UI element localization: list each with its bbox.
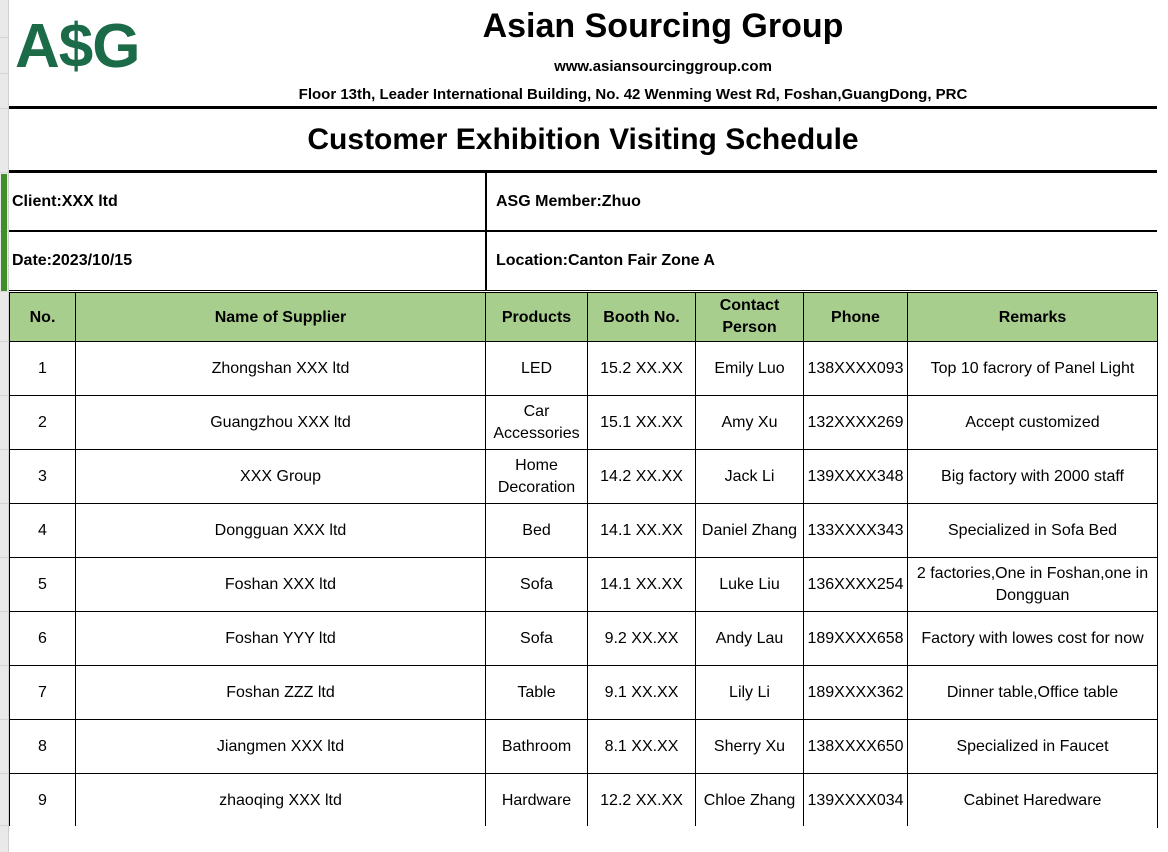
gutter-row[interactable] — [0, 292, 9, 342]
gutter-row[interactable] — [0, 666, 9, 720]
client-field[interactable]: Client:XXX ltd — [9, 173, 487, 230]
cell-supplier[interactable]: Foshan ZZZ ltd — [76, 666, 486, 720]
table-row: 1Zhongshan XXX ltdLED15.2 XX.XXEmily Luo… — [10, 342, 1158, 396]
cell-phone[interactable]: 133XXXX343 — [804, 504, 908, 558]
col-header-products[interactable]: Products — [486, 293, 588, 342]
cell-booth[interactable]: 9.1 XX.XX — [588, 666, 696, 720]
cell-remarks[interactable]: Top 10 facrory of Panel Light — [908, 342, 1158, 396]
table-row: 3XXX GroupHome Decoration14.2 XX.XXJack … — [10, 450, 1158, 504]
empty-rows-area[interactable] — [9, 826, 1157, 852]
col-header-no[interactable]: No. — [10, 293, 76, 342]
gutter-row[interactable] — [0, 38, 9, 74]
cell-supplier[interactable]: zhaoqing XXX ltd — [76, 774, 486, 828]
col-header-contact-person[interactable]: Contact Person — [696, 293, 804, 342]
table-row: 8Jiangmen XXX ltdBathroom8.1 XX.XXSherry… — [10, 720, 1158, 774]
cell-booth[interactable]: 8.1 XX.XX — [588, 720, 696, 774]
col-header-supplier[interactable]: Name of Supplier — [76, 293, 486, 342]
company-name: Asian Sourcing Group — [169, 6, 1157, 46]
cell-contact[interactable]: Sherry Xu — [696, 720, 804, 774]
cell-phone[interactable]: 139XXXX034 — [804, 774, 908, 828]
cell-no[interactable]: 7 — [10, 666, 76, 720]
asg-logo: A$G — [15, 16, 139, 78]
cell-phone[interactable]: 136XXXX254 — [804, 558, 908, 612]
cell-booth[interactable]: 9.2 XX.XX — [588, 612, 696, 666]
schedule-table-wrapper: No. Name of Supplier Products Booth No. … — [9, 292, 1157, 828]
cell-supplier[interactable]: Dongguan XXX ltd — [76, 504, 486, 558]
table-row: 4Dongguan XXX ltdBed14.1 XX.XXDaniel Zha… — [10, 504, 1158, 558]
cell-contact[interactable]: Jack Li — [696, 450, 804, 504]
cell-remarks[interactable]: Factory with lowes cost for now — [908, 612, 1158, 666]
spreadsheet-canvas: A$G Asian Sourcing Group www.asiansourci… — [0, 0, 1168, 852]
cell-booth[interactable]: 12.2 XX.XX — [588, 774, 696, 828]
cell-no[interactable]: 1 — [10, 342, 76, 396]
gutter-row[interactable] — [0, 450, 9, 504]
table-header-row: No. Name of Supplier Products Booth No. … — [10, 293, 1158, 342]
cell-phone[interactable]: 138XXXX650 — [804, 720, 908, 774]
cell-products[interactable]: Home Decoration — [486, 450, 588, 504]
col-header-phone[interactable]: Phone — [804, 293, 908, 342]
cell-remarks[interactable]: Dinner table,Office table — [908, 666, 1158, 720]
cell-products[interactable]: Bed — [486, 504, 588, 558]
cell-remarks[interactable]: Specialized in Faucet — [908, 720, 1158, 774]
gutter-row[interactable] — [0, 342, 9, 396]
gutter-row[interactable] — [0, 504, 9, 558]
cell-products[interactable]: Hardware — [486, 774, 588, 828]
cell-products[interactable]: Sofa — [486, 558, 588, 612]
company-address: Floor 13th, Leader International Buildin… — [109, 86, 1157, 103]
cell-booth[interactable]: 14.1 XX.XX — [588, 558, 696, 612]
cell-contact[interactable]: Chloe Zhang — [696, 774, 804, 828]
cell-no[interactable]: 9 — [10, 774, 76, 828]
cell-products[interactable]: LED — [486, 342, 588, 396]
company-header: A$G Asian Sourcing Group www.asiansourci… — [9, 0, 1157, 109]
cell-products[interactable]: Sofa — [486, 612, 588, 666]
company-website: www.asiansourcinggroup.com — [169, 58, 1157, 75]
table-row: 9zhaoqing XXX ltdHardware12.2 XX.XXChloe… — [10, 774, 1158, 828]
gutter-row[interactable] — [0, 612, 9, 666]
sheet-body: A$G Asian Sourcing Group www.asiansourci… — [9, 0, 1168, 852]
cell-contact[interactable]: Lily Li — [696, 666, 804, 720]
cell-supplier[interactable]: Foshan XXX ltd — [76, 558, 486, 612]
cell-contact[interactable]: Amy Xu — [696, 396, 804, 450]
cell-phone[interactable]: 138XXXX093 — [804, 342, 908, 396]
cell-supplier[interactable]: Zhongshan XXX ltd — [76, 342, 486, 396]
cell-booth[interactable]: 15.2 XX.XX — [588, 342, 696, 396]
document-title-band: Customer Exhibition Visiting Schedule — [9, 109, 1157, 173]
cell-no[interactable]: 8 — [10, 720, 76, 774]
cell-products[interactable]: Car Accessories — [486, 396, 588, 450]
cell-remarks[interactable]: Accept customized — [908, 396, 1158, 450]
cell-contact[interactable]: Daniel Zhang — [696, 504, 804, 558]
cell-booth[interactable]: 14.2 XX.XX — [588, 450, 696, 504]
row-header-gutter[interactable] — [0, 0, 9, 852]
table-row: 6Foshan YYY ltdSofa9.2 XX.XXAndy Lau189X… — [10, 612, 1158, 666]
cell-booth[interactable]: 14.1 XX.XX — [588, 504, 696, 558]
cell-remarks[interactable]: Big factory with 2000 staff — [908, 450, 1158, 504]
col-header-remarks[interactable]: Remarks — [908, 293, 1158, 342]
row-selection-indicator — [1, 174, 7, 291]
table-body: 1Zhongshan XXX ltdLED15.2 XX.XXEmily Luo… — [10, 342, 1158, 828]
cell-no[interactable]: 4 — [10, 504, 76, 558]
gutter-row[interactable] — [0, 109, 9, 173]
cell-remarks[interactable]: Specialized in Sofa Bed — [908, 504, 1158, 558]
cell-no[interactable]: 3 — [10, 450, 76, 504]
cell-supplier[interactable]: Jiangmen XXX ltd — [76, 720, 486, 774]
cell-products[interactable]: Table — [486, 666, 588, 720]
location-field[interactable]: Location:Canton Fair Zone A — [487, 232, 1157, 290]
gutter-row[interactable] — [0, 0, 9, 38]
cell-supplier[interactable]: Foshan YYY ltd — [76, 612, 486, 666]
table-row: 2Guangzhou XXX ltdCar Accessories15.1 XX… — [10, 396, 1158, 450]
page-title: Customer Exhibition Visiting Schedule — [9, 123, 1157, 157]
cell-contact[interactable]: Emily Luo — [696, 342, 804, 396]
cell-supplier[interactable]: XXX Group — [76, 450, 486, 504]
cell-contact[interactable]: Luke Liu — [696, 558, 804, 612]
gutter-row[interactable] — [0, 774, 9, 826]
meta-row-client: Client:XXX ltd ASG Member:Zhuo — [9, 173, 1157, 232]
cell-no[interactable]: 2 — [10, 396, 76, 450]
gutter-row[interactable] — [0, 396, 9, 450]
schedule-table: No. Name of Supplier Products Booth No. … — [9, 292, 1158, 828]
gutter-row[interactable] — [0, 558, 9, 612]
cell-phone[interactable]: 139XXXX348 — [804, 450, 908, 504]
cell-remarks[interactable]: 2 factories,One in Foshan,one in Donggua… — [908, 558, 1158, 612]
asg-member-field[interactable]: ASG Member:Zhuo — [487, 173, 1157, 230]
table-row: 7Foshan ZZZ ltdTable9.1 XX.XXLily Li189X… — [10, 666, 1158, 720]
cell-booth[interactable]: 15.1 XX.XX — [588, 396, 696, 450]
table-head: No. Name of Supplier Products Booth No. … — [10, 293, 1158, 342]
cell-phone[interactable]: 189XXXX658 — [804, 612, 908, 666]
cell-no[interactable]: 6 — [10, 612, 76, 666]
cell-products[interactable]: Bathroom — [486, 720, 588, 774]
cell-phone[interactable]: 132XXXX269 — [804, 396, 908, 450]
meta-row-date: Date:2023/10/15 Location:Canton Fair Zon… — [9, 232, 1157, 291]
cell-remarks[interactable]: Cabinet Haredware — [908, 774, 1158, 828]
col-header-booth[interactable]: Booth No. — [588, 293, 696, 342]
cell-phone[interactable]: 189XXXX362 — [804, 666, 908, 720]
gutter-row[interactable] — [0, 720, 9, 774]
cell-no[interactable]: 5 — [10, 558, 76, 612]
gutter-row[interactable] — [0, 74, 9, 109]
cell-supplier[interactable]: Guangzhou XXX ltd — [76, 396, 486, 450]
cell-contact[interactable]: Andy Lau — [696, 612, 804, 666]
date-field[interactable]: Date:2023/10/15 — [9, 232, 487, 290]
table-row: 5Foshan XXX ltdSofa14.1 XX.XXLuke Liu136… — [10, 558, 1158, 612]
